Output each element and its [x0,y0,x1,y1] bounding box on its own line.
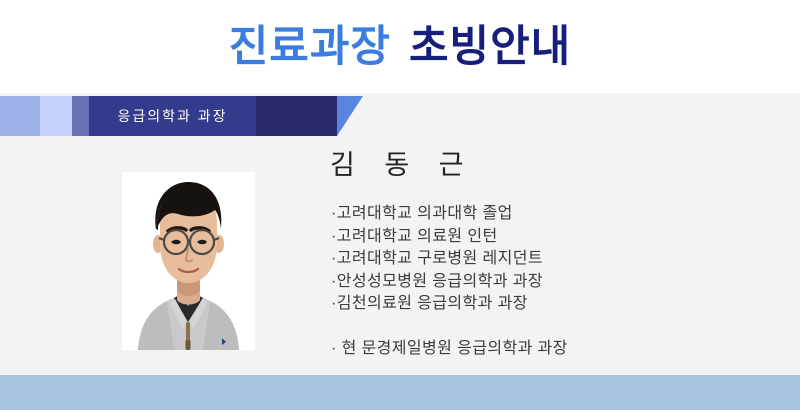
bio-list: ·고려대학교 의과대학 졸업 ·고려대학교 의료원 인턴 ·고려대학교 구로병원… [331,203,761,360]
ribbon-segment-3 [72,96,89,136]
title-part-recruitment: 초빙안내 [409,23,571,71]
bio-item: ·고려대학교 의료원 인턴 [331,226,761,249]
announcement-slide: 진료과장초빙안내 응급의학과 과장 [0,0,800,410]
bio-item-current: · 현 문경제일병원 응급의학과 과장 [331,338,761,361]
bottom-bar [0,375,800,410]
ribbon-segment-5 [256,96,337,136]
doctor-portrait [122,172,255,350]
bio-item: ·안성성모병원 응급의학과 과장 [331,271,761,294]
title-part-department: 진료과장 [229,23,391,71]
department-ribbon: 응급의학과 과장 [0,96,365,136]
bio-item: ·김천의료원 응급의학과 과장 [331,293,761,316]
department-label: 응급의학과 과장 [89,96,256,136]
portrait-illustration [122,172,255,350]
ribbon-segment-2 [40,96,72,136]
bio-item: ·고려대학교 구로병원 레지던트 [331,248,761,271]
header-band: 진료과장초빙안내 [0,0,800,93]
ribbon-arrow-icon [337,96,363,136]
bio-item: ·고려대학교 의과대학 졸업 [331,203,761,226]
doctor-name: 김 동 근 [330,143,475,182]
page-title: 진료과장초빙안내 [0,20,800,74]
bio-spacer [331,316,761,338]
ribbon-segment-1 [0,96,40,136]
